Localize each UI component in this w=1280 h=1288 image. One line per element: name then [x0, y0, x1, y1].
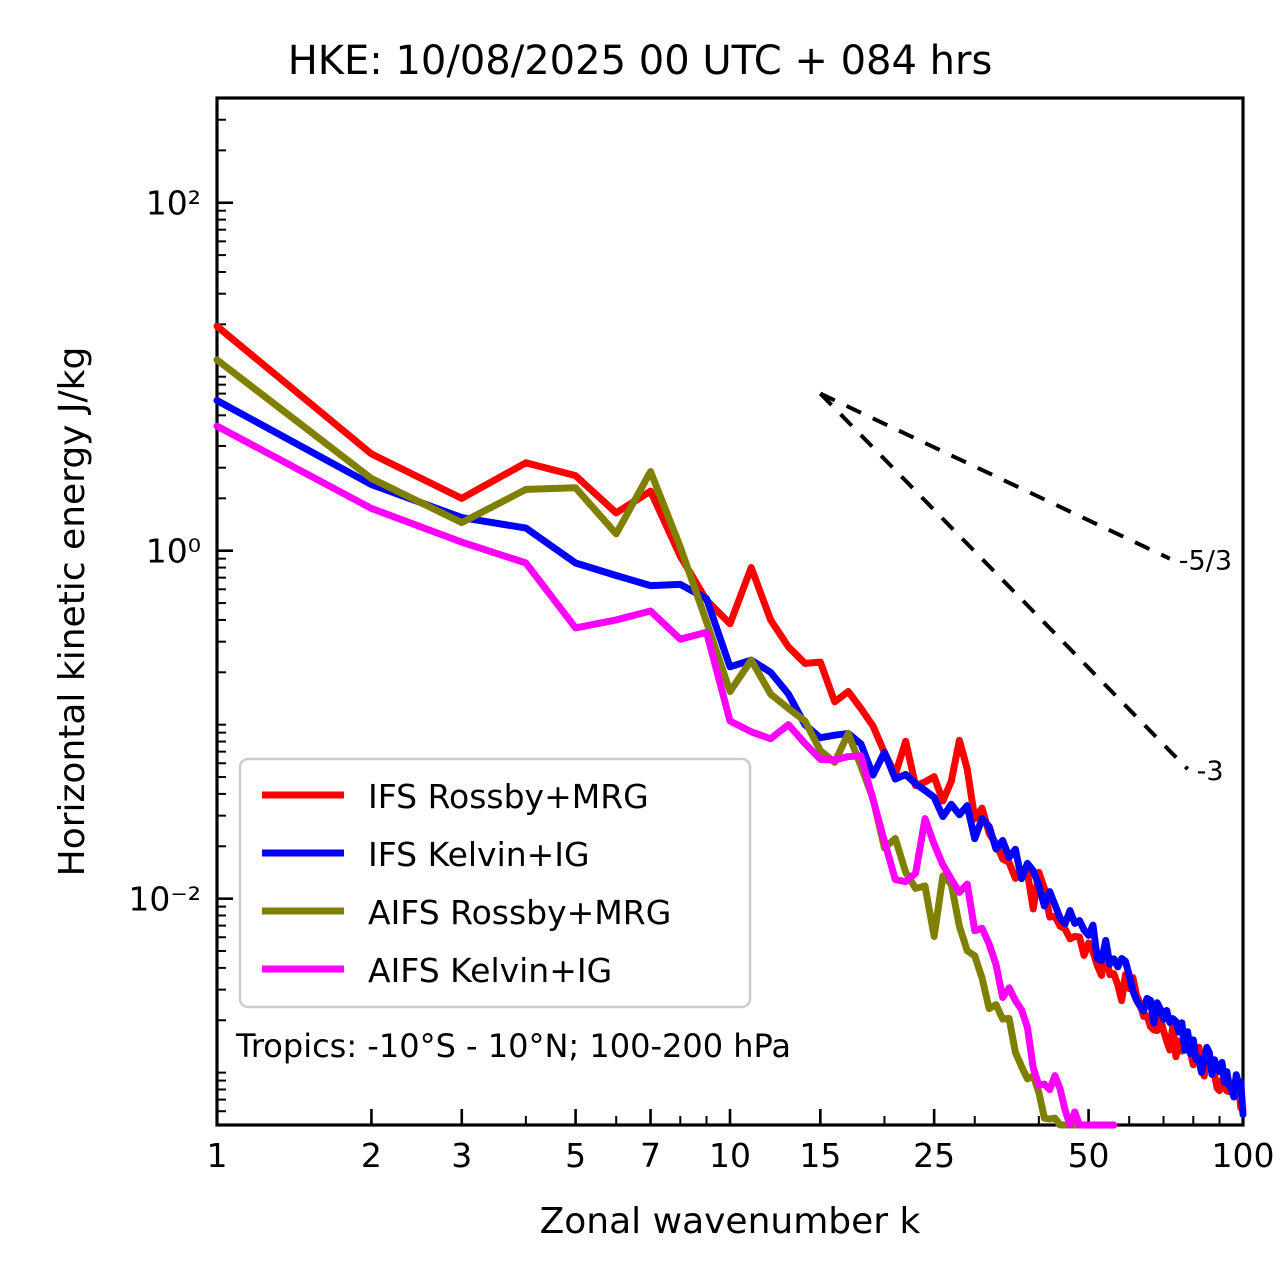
x-tick-label: 3 — [451, 1136, 472, 1175]
legend-label[interactable]: IFS Kelvin+IG — [368, 835, 590, 874]
region-annotation: Tropics: -10°S - 10°N; 100-200 hPa — [235, 1027, 791, 1065]
annotations: Tropics: -10°S - 10°N; 100-200 hPa — [235, 1027, 791, 1065]
x-tick-label: 1 — [207, 1136, 228, 1175]
x-tick-label: 25 — [913, 1136, 955, 1175]
reference-line — [820, 394, 1187, 770]
reference-lines: -5/3-3 — [820, 394, 1232, 788]
legend-label[interactable]: AIFS Rossby+MRG — [368, 893, 671, 932]
reference-line-label: -5/3 — [1179, 546, 1232, 577]
y-axis-title: Horizontal kinetic energy J/kg — [52, 347, 93, 877]
x-tick-label: 7 — [640, 1136, 661, 1175]
y-tick-label: 10⁰ — [146, 532, 201, 571]
x-tick-label: 15 — [799, 1136, 841, 1175]
reference-line-label: -3 — [1197, 756, 1224, 787]
x-tick-label: 5 — [565, 1136, 586, 1175]
x-tick-label: 2 — [361, 1136, 382, 1175]
x-tick-label: 50 — [1068, 1136, 1110, 1175]
x-tick-label: 10 — [709, 1136, 751, 1175]
legend[interactable]: IFS Rossby+MRGIFS Kelvin+IGAIFS Rossby+M… — [240, 759, 750, 1007]
reference-line — [820, 394, 1169, 559]
x-axis-title: Zonal wavenumber k — [540, 1201, 921, 1242]
x-tick-label: 100 — [1212, 1136, 1275, 1175]
y-tick-label: 10⁻² — [128, 880, 201, 919]
y-tick-label: 10² — [146, 184, 201, 223]
legend-label[interactable]: AIFS Kelvin+IG — [368, 951, 612, 990]
legend-label[interactable]: IFS Rossby+MRG — [368, 777, 649, 816]
figure-canvas: HKE: 10/08/2025 00 UTC + 084 hrs 1235710… — [0, 0, 1280, 1288]
chart-plot: 123571015255010010²10⁰10⁻²Zonal wavenumb… — [0, 0, 1280, 1288]
